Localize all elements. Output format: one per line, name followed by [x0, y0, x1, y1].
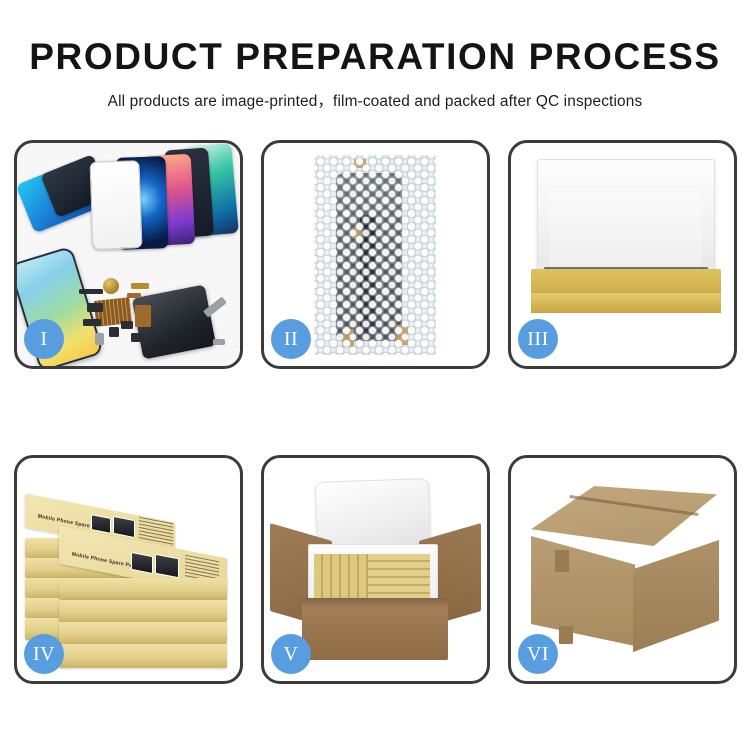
process-step-1: I [14, 140, 243, 369]
step-badge-4: IV [24, 634, 64, 674]
bubble-bag-graphic [314, 155, 436, 355]
carton-top-face [531, 486, 717, 546]
part-graphic [83, 319, 101, 326]
part-graphic [109, 327, 119, 337]
screw-part-graphic [213, 339, 225, 345]
stacked-box [59, 644, 227, 668]
step-badge-5: V [271, 634, 311, 674]
process-step-4: Mobile Phone Spare Parts Mobile Phone Sp… [14, 455, 243, 684]
process-step-6: VI [508, 455, 737, 684]
stacked-box [59, 622, 227, 644]
speaker-part-graphic [103, 278, 119, 294]
step-badge-2: II [271, 319, 311, 359]
part-graphic [95, 333, 104, 345]
carton-tape-graphic [559, 626, 573, 644]
part-graphic [131, 283, 149, 289]
bubble-texture-graphic [314, 155, 436, 355]
page-header: PRODUCT PREPARATION PROCESS All products… [0, 0, 750, 111]
part-graphic [127, 293, 141, 298]
front-glass-graphic [89, 160, 142, 250]
carton-front-face [531, 536, 635, 646]
carton-body-graphic [302, 598, 448, 660]
part-graphic [131, 333, 142, 342]
step-badge-3: III [518, 319, 558, 359]
styrofoam-lid-graphic [315, 478, 431, 550]
carton-side-face [633, 540, 719, 652]
page-title: PRODUCT PREPARATION PROCESS [0, 38, 750, 77]
part-graphic [79, 289, 103, 294]
yellow-box-front-graphic [531, 293, 721, 313]
carton-tape-graphic [555, 550, 569, 572]
part-graphic [121, 321, 133, 329]
process-step-2: II [261, 140, 490, 369]
step-badge-6: VI [518, 634, 558, 674]
process-step-grid: I II III [14, 140, 736, 684]
part-graphic [87, 303, 103, 312]
process-step-3: III [508, 140, 737, 369]
page-subtitle: All products are image-printed，film-coat… [0, 89, 750, 111]
step-badge-1: I [24, 319, 64, 359]
flex-cable-graphic [135, 305, 151, 327]
stacked-box [59, 600, 227, 622]
packed-boxes-graphic [368, 554, 430, 602]
foam-lid-graphic [537, 159, 715, 281]
stacked-box [59, 578, 227, 600]
process-step-5: V [261, 455, 490, 684]
